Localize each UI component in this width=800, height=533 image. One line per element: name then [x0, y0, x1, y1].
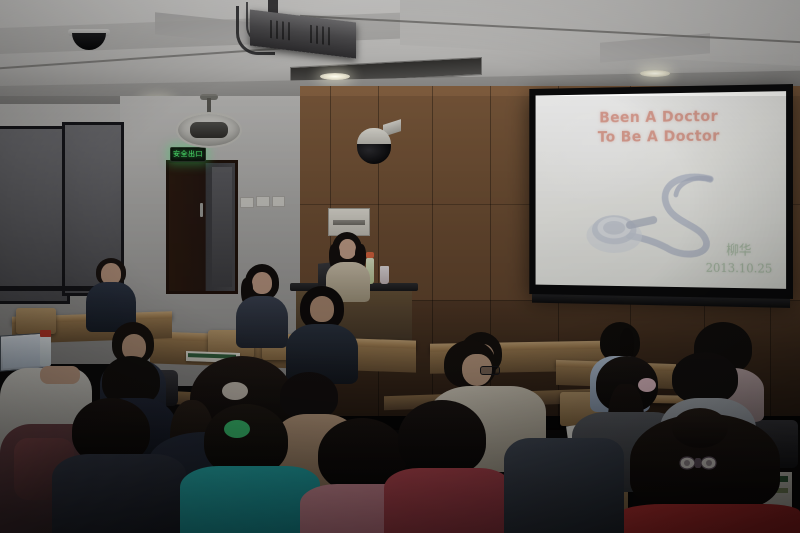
- slide-date: 2013.10.25: [706, 261, 773, 276]
- slide-presenter-name: 柳华: [706, 242, 773, 260]
- slide-credit: 柳华 2013.10.25: [706, 242, 773, 276]
- audience-member-foreground: [384, 400, 510, 533]
- door-handle[interactable]: [200, 203, 203, 217]
- ceiling-downlight: [320, 73, 350, 80]
- exit-sign-label: 安全出口: [173, 151, 203, 158]
- hair-bow-icon: [676, 452, 720, 474]
- water-bottle-cap: [40, 330, 51, 337]
- audience-member-with-hair-bow: [620, 408, 800, 533]
- projection-screen-surface: Been A Doctor To Be A Doctor 柳华 2013.10.…: [536, 91, 787, 289]
- ceiling-downlight: [640, 70, 670, 77]
- ceiling-speaker-icon: [176, 112, 242, 148]
- exit-sign: 安全出口: [170, 147, 206, 162]
- audience-member-foreground: [52, 398, 186, 533]
- audience-member: [236, 264, 288, 340]
- hair-tie: [222, 382, 248, 400]
- window-left-far: [0, 126, 70, 304]
- hand: [40, 366, 80, 384]
- projection-screen: Been A Doctor To Be A Doctor 柳华 2013.10.…: [529, 84, 793, 299]
- audience-member: [86, 258, 136, 328]
- lecture-hall-photo: 安全出口: [0, 0, 800, 533]
- audience-member-foreground: [504, 438, 624, 533]
- room-door[interactable]: [166, 160, 238, 294]
- slide-title-line2: To Be A Doctor: [536, 125, 787, 147]
- hair-bun: [672, 408, 728, 448]
- door-glass-panel: [212, 167, 232, 287]
- presenter-cup: [380, 266, 389, 284]
- slide-title: Been A Doctor To Be A Doctor: [536, 105, 787, 147]
- hair-tie: [638, 378, 656, 392]
- light-switch-plate[interactable]: [240, 197, 254, 208]
- hair-tie: [224, 420, 250, 438]
- light-switch-plate[interactable]: [272, 196, 285, 207]
- light-switch-plate[interactable]: [256, 196, 270, 207]
- eyeglasses-icon: [480, 366, 500, 375]
- audience-member-foreground-cyan: [180, 404, 320, 533]
